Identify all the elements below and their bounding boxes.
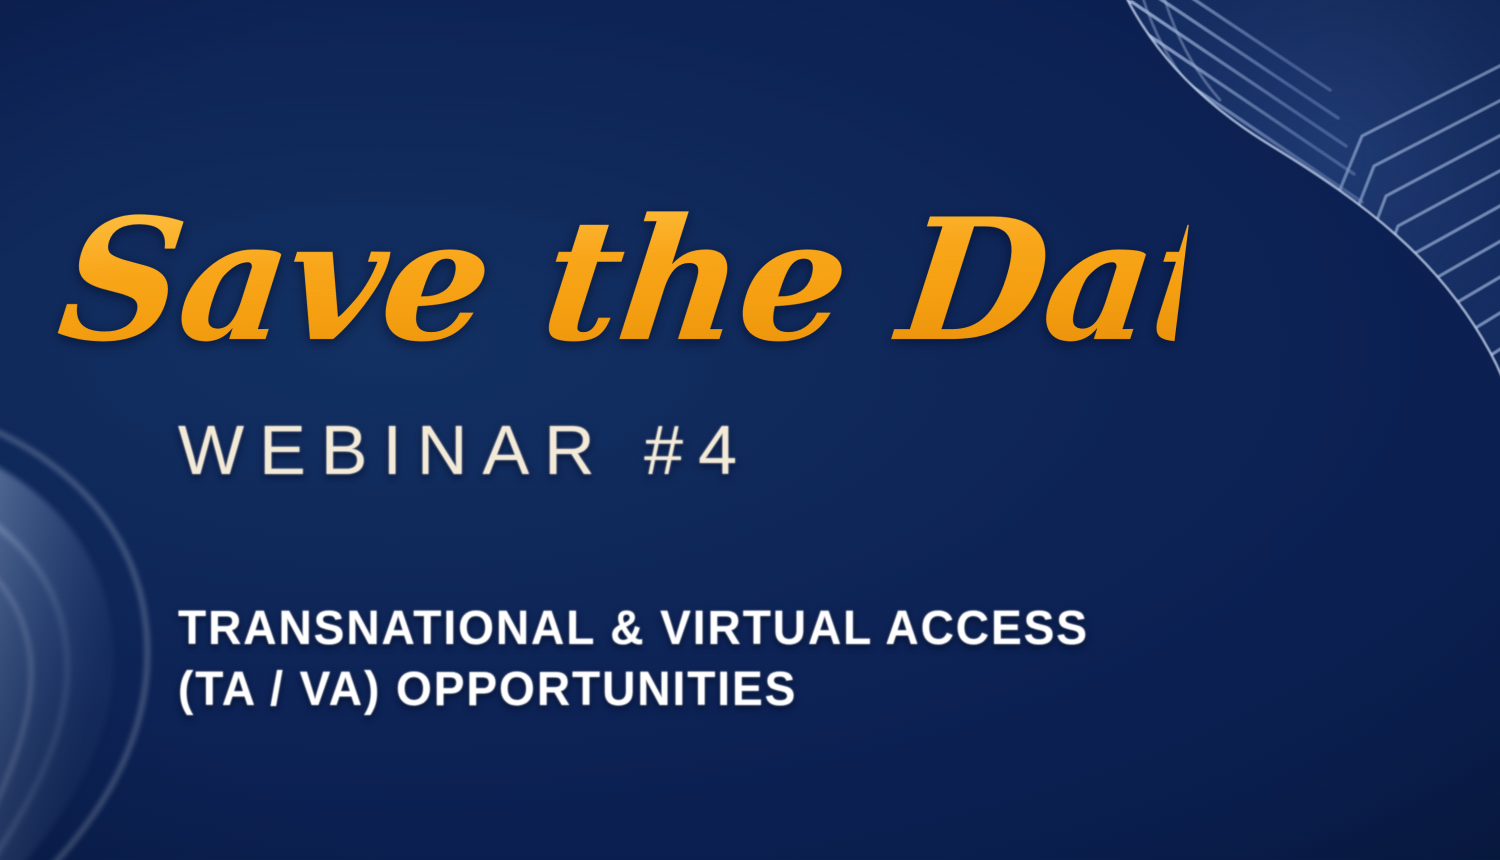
title-card-slide: Save the Date WEBINAR #4 TRANSNATIONAL &…	[0, 0, 1500, 860]
subtitle-line-1: TRANSNATIONAL & VIRTUAL ACCESS	[178, 598, 1089, 659]
subtitle-line-2: (TA / VA) OPPORTUNITIES	[178, 659, 1089, 720]
text-content: Save the Date WEBINAR #4 TRANSNATIONAL &…	[0, 0, 1500, 860]
webinar-number-label: WEBINAR #4	[178, 415, 752, 485]
script-heading-save-the-date: Save the Date	[52, 196, 1193, 364]
subtitle-block: TRANSNATIONAL & VIRTUAL ACCESS (TA / VA)…	[178, 598, 1089, 721]
